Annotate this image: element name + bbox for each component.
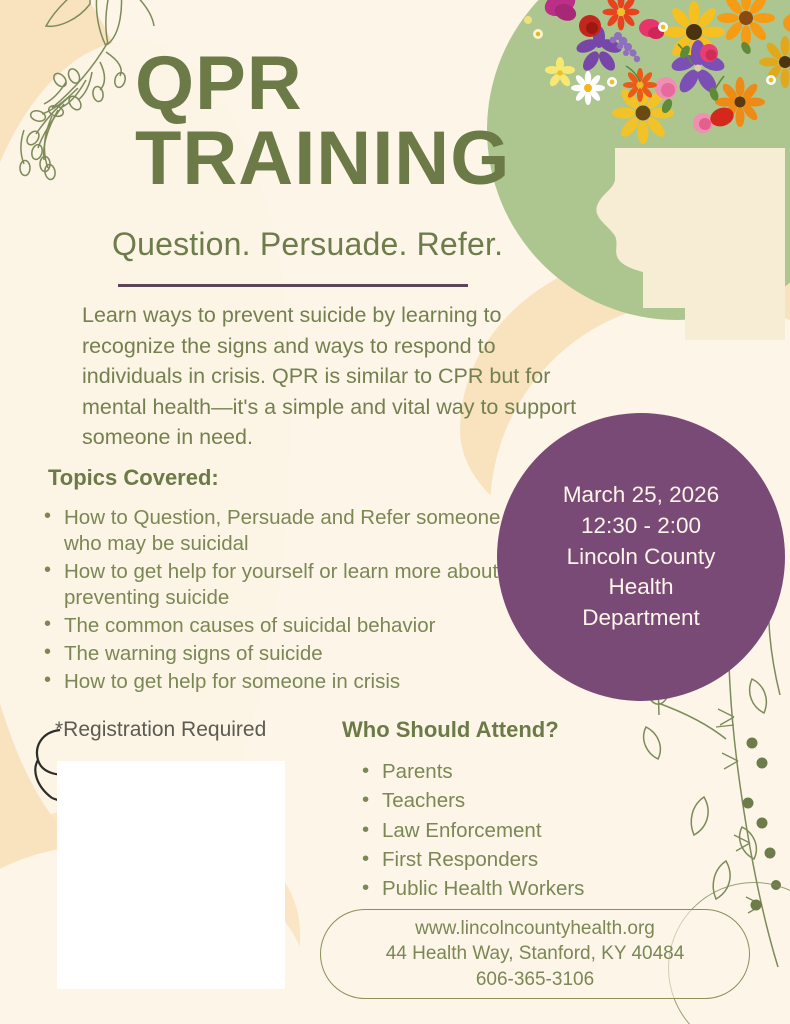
title-divider	[118, 284, 468, 287]
address-text: 44 Health Way, Stanford, KY 40484	[386, 941, 685, 966]
list-item: The warning signs of suicide	[64, 641, 524, 667]
event-time: 12:30 - 2:00	[581, 511, 701, 542]
head-silhouette-svg	[585, 140, 790, 340]
head-silhouette	[585, 140, 790, 340]
title-line-1: QPR	[135, 46, 555, 121]
list-item: First Responders	[382, 845, 682, 874]
topics-list: How to Question, Persuade and Refer some…	[40, 505, 524, 697]
title-line-2: TRAINING	[135, 121, 555, 196]
list-item: Public Health Workers	[382, 874, 682, 903]
list-item: How to get help for yourself or learn mo…	[64, 559, 524, 611]
page-title: QPR TRAINING	[135, 46, 555, 196]
list-item: How to Question, Persuade and Refer some…	[64, 505, 524, 557]
intro-paragraph: Learn ways to prevent suicide by learnin…	[82, 300, 582, 453]
topics-heading: Topics Covered:	[48, 465, 219, 491]
list-item: How to get help for someone in crisis	[64, 669, 524, 695]
website-link[interactable]: www.lincolncountyhealth.org	[415, 916, 655, 941]
event-date: March 25, 2026	[563, 480, 719, 511]
event-venue-line-3: Department	[582, 603, 700, 634]
list-item: Law Enforcement	[382, 816, 682, 845]
event-venue-line-2: Health	[608, 572, 673, 603]
list-item: The common causes of suicidal behavior	[64, 613, 524, 639]
phone-text[interactable]: 606-365-3106	[476, 967, 594, 992]
attend-heading: Who Should Attend?	[342, 717, 559, 743]
event-venue-line-1: Lincoln County	[567, 542, 716, 573]
qr-code-container[interactable]	[57, 761, 285, 989]
page-subtitle: Question. Persuade. Refer.	[112, 226, 503, 263]
attend-list: Parents Teachers Law Enforcement First R…	[358, 757, 682, 904]
contact-info-pill: www.lincolncountyhealth.org 44 Health Wa…	[320, 909, 750, 999]
list-item: Teachers	[382, 786, 682, 815]
list-item: Parents	[382, 757, 682, 786]
qpr-training-flyer: QPR TRAINING Question. Persuade. Refer. …	[0, 0, 790, 1024]
event-details-badge: March 25, 2026 12:30 - 2:00 Lincoln Coun…	[497, 413, 785, 701]
